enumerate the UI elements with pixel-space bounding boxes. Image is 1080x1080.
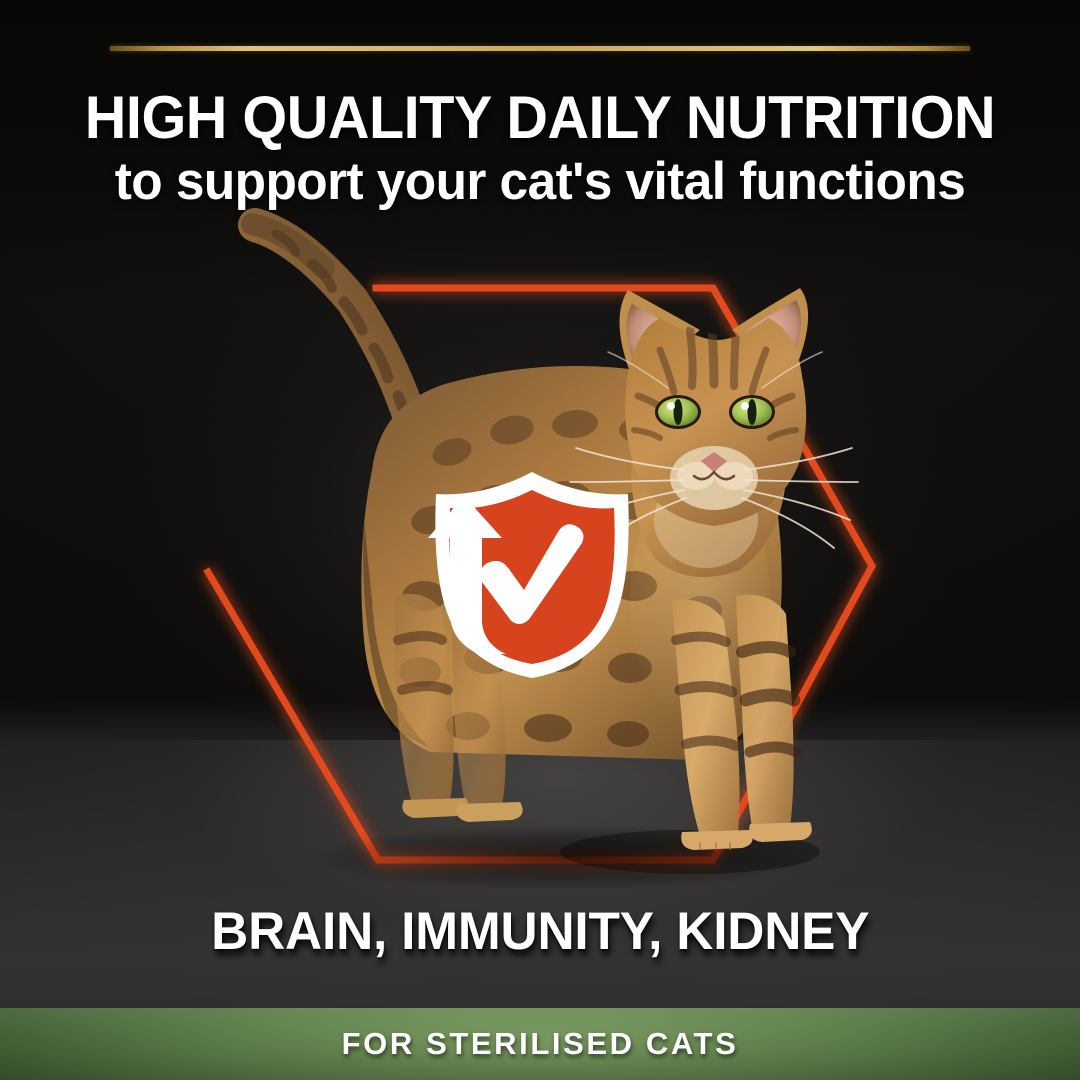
- cat-eye-left: [655, 395, 701, 429]
- banner-label: FOR STERILISED CATS: [0, 1008, 1080, 1080]
- shield-check-arrow-icon: [424, 470, 640, 680]
- sterilised-cats-banner: FOR STERILISED CATS: [0, 1008, 1080, 1080]
- shield-badge: [424, 470, 640, 680]
- cat-eye-right: [729, 395, 775, 429]
- promo-banner-canvas: HIGH QUALITY DAILY NUTRITION to support …: [0, 0, 1080, 1080]
